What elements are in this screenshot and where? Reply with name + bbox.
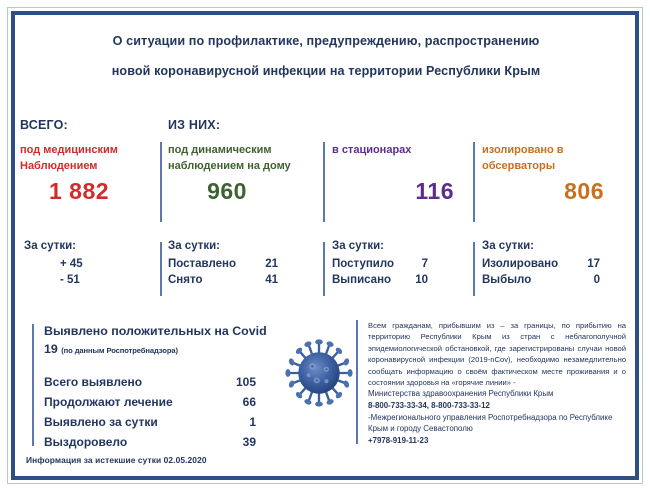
notice-hotline-phones-2: +7978-919-11-23 bbox=[368, 435, 626, 447]
footer-timestamp: Информация за истекшие сутки 02.05.2020 bbox=[26, 455, 207, 465]
per-day-row-item: Поставлено 21 bbox=[168, 256, 316, 272]
per-day-value: 10 bbox=[415, 272, 472, 288]
per-day-value: 7 bbox=[422, 256, 472, 272]
public-notice-block: Всем гражданам, прибывшим из – за границ… bbox=[368, 320, 626, 446]
per-day-heading-4: За сутки: bbox=[482, 240, 630, 252]
covid-row-label: Всего выявлено bbox=[44, 372, 142, 392]
stat-card-total: ВСЕГО: под медицинским Наблюдением 1 882 bbox=[20, 118, 152, 226]
per-day-label: + 45 bbox=[60, 256, 83, 272]
per-day-row-item: + 45 bbox=[24, 256, 156, 272]
coronavirus-icon bbox=[282, 336, 356, 410]
per-day-heading-3: За сутки: bbox=[332, 240, 472, 252]
per-day-row-item: Изолировано 17 bbox=[482, 256, 630, 272]
stat-label-hospital: в стационарах bbox=[332, 142, 472, 174]
per-day-value: 0 bbox=[594, 272, 630, 288]
stat-label-hospital-line2 bbox=[332, 158, 472, 174]
stat-value-home: 960 bbox=[168, 178, 316, 205]
per-day-label: - 51 bbox=[60, 272, 80, 288]
stat-label-home-line1: под динамическим bbox=[168, 142, 316, 158]
covid-row: Выявлено за сутки 1 bbox=[44, 412, 294, 432]
stat-card-hospital: в стационарах 116 bbox=[332, 118, 472, 226]
title-line-2: новой коронавирусной инфекции на террито… bbox=[30, 56, 622, 86]
stat-card-home-observation: ИЗ НИХ: под динамическим наблюдением на … bbox=[168, 118, 316, 226]
stat-value-hospital: 116 bbox=[332, 178, 472, 205]
stats-divider-2 bbox=[323, 142, 325, 222]
per-day-label: Поступило bbox=[332, 256, 394, 272]
per-day-value: 17 bbox=[587, 256, 630, 272]
covid-block-accent bbox=[32, 324, 34, 446]
stat-label-hospital-line1: в стационарах bbox=[332, 142, 472, 158]
covid-row: Выздоровело 39 bbox=[44, 432, 294, 452]
notice-ministry-line: Министерства здравоохранения Республики … bbox=[368, 388, 626, 400]
per-day-label: Снято bbox=[168, 272, 202, 288]
per-day-row-item: Выбыло 0 bbox=[482, 272, 630, 288]
per-day-row-item: Выписано 10 bbox=[332, 272, 472, 288]
per-day-row-item: Поступило 7 bbox=[332, 256, 472, 272]
stat-value-observatory: 806 bbox=[482, 178, 622, 205]
covid-row-label: Продолжают лечение bbox=[44, 392, 173, 412]
covid-sub-note: (по данным Роспотребнадзора) bbox=[61, 346, 178, 355]
per-day-card-hospital: За сутки: Поступило 7 Выписано 10 bbox=[332, 240, 472, 288]
covid-block-title: Выявлено положительных на Covid bbox=[44, 322, 294, 340]
stat-label-observatory: изолировано в обсерваторы bbox=[482, 142, 622, 174]
stat-label-home-line2: наблюдением на дому bbox=[168, 158, 316, 174]
per-day-card-observatory: За сутки: Изолировано 17 Выбыло 0 bbox=[482, 240, 630, 288]
page-title: О ситуации по профилактике, предупрежден… bbox=[30, 26, 622, 86]
stat-label-total-line1: под медицинским bbox=[20, 142, 152, 158]
per-day-divider-3 bbox=[473, 242, 475, 296]
per-day-card-home: За сутки: Поставлено 21 Снято 41 bbox=[168, 240, 316, 288]
info-block-accent bbox=[356, 320, 358, 444]
per-day-row: За сутки: + 45 - 51 За сутки: Поставлено… bbox=[20, 240, 630, 300]
per-day-label: Выбыло bbox=[482, 272, 531, 288]
per-day-label: Поставлено bbox=[168, 256, 236, 272]
stat-label-home: под динамическим наблюдением на дому bbox=[168, 142, 316, 174]
notice-rospotrebnadzor-line-1: -Межрегионального управления Роспотребна… bbox=[368, 412, 626, 424]
infographic-poster: О ситуации по профилактике, предупрежден… bbox=[0, 0, 650, 491]
stat-label-total: под медицинским Наблюдением bbox=[20, 142, 152, 174]
stat-kicker-of-them: ИЗ НИХ: bbox=[168, 118, 316, 132]
stat-value-total: 1 882 bbox=[20, 178, 152, 205]
per-day-value: 41 bbox=[265, 272, 316, 288]
notice-paragraph: Всем гражданам, прибывшим из – за границ… bbox=[368, 320, 626, 388]
per-day-divider-1 bbox=[160, 242, 162, 296]
per-day-divider-2 bbox=[323, 242, 325, 296]
covid-sub-number: 19 bbox=[44, 342, 58, 356]
covid-row: Всего выявлено 105 bbox=[44, 372, 294, 392]
statistics-row: ВСЕГО: под медицинским Наблюдением 1 882… bbox=[20, 118, 630, 226]
stat-kicker-hospital-spacer bbox=[332, 118, 472, 132]
covid-row: Продолжают лечение 66 bbox=[44, 392, 294, 412]
stat-card-observatory: изолировано в обсерваторы 806 bbox=[482, 118, 622, 226]
covid-block-subtitle: 19 (по данным Роспотребнадзора) bbox=[44, 340, 294, 360]
covid-row-label: Выявлено за сутки bbox=[44, 412, 158, 432]
covid-positive-block: Выявлено положительных на Covid 19 (по д… bbox=[44, 322, 294, 452]
per-day-heading-2: За сутки: bbox=[168, 240, 316, 252]
per-day-card-total: За сутки: + 45 - 51 bbox=[24, 240, 156, 288]
covid-row-value: 1 bbox=[249, 412, 294, 432]
covid-row-value: 39 bbox=[243, 432, 294, 452]
stat-label-total-line2: Наблюдением bbox=[20, 158, 152, 174]
per-day-row-item: Снято 41 bbox=[168, 272, 316, 288]
stat-label-observatory-line2: обсерваторы bbox=[482, 158, 622, 174]
stats-divider-3 bbox=[473, 142, 475, 222]
per-day-label: Изолировано bbox=[482, 256, 558, 272]
stat-kicker-observatory-spacer bbox=[482, 118, 622, 132]
per-day-value: 21 bbox=[265, 256, 316, 272]
notice-hotline-phones-1: 8-800-733-33-34, 8-800-733-33-12 bbox=[368, 400, 626, 412]
notice-rospotrebnadzor-line-2: Крым и городу Севастополю bbox=[368, 423, 626, 435]
stat-label-observatory-line1: изолировано в bbox=[482, 142, 622, 158]
per-day-label: Выписано bbox=[332, 272, 391, 288]
stat-kicker-total: ВСЕГО: bbox=[20, 118, 152, 132]
per-day-heading-1: За сутки: bbox=[24, 240, 156, 252]
title-line-1: О ситуации по профилактике, предупрежден… bbox=[30, 26, 622, 56]
covid-row-label: Выздоровело bbox=[44, 432, 127, 452]
per-day-row-item: - 51 bbox=[24, 272, 156, 288]
stats-divider-1 bbox=[160, 142, 162, 222]
